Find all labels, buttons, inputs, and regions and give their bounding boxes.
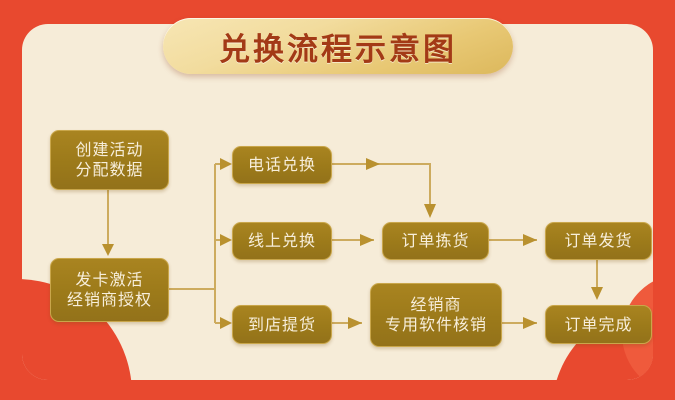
node-line: 订单发货 — [564, 231, 632, 251]
node-line: 创建活动 — [75, 140, 143, 160]
node-line: 分配数据 — [75, 160, 143, 180]
node-create-activity[interactable]: 创建活动 分配数据 — [50, 130, 169, 190]
node-line: 发卡激活 — [75, 270, 143, 290]
title-banner: 兑换流程示意图 — [163, 18, 513, 74]
node-store-pickup[interactable]: 到店提货 — [232, 305, 332, 344]
node-line: 经销商 — [410, 295, 461, 315]
node-dealer-software-verification[interactable]: 经销商 专用软件核销 — [370, 283, 502, 347]
node-line: 经销商授权 — [67, 290, 152, 310]
node-phone-redemption[interactable]: 电话兑换 — [232, 146, 332, 184]
node-order-shipping[interactable]: 订单发货 — [545, 222, 652, 260]
node-line: 订单拣货 — [401, 231, 469, 251]
diagram-canvas: 兑换流程示意图 — [0, 0, 675, 400]
node-line: 线上兑换 — [248, 231, 316, 251]
page-title: 兑换流程示意图 — [219, 24, 457, 69]
node-order-picking[interactable]: 订单拣货 — [382, 222, 489, 260]
node-line: 订单完成 — [564, 315, 632, 335]
node-line: 到店提货 — [248, 315, 316, 335]
node-online-redemption[interactable]: 线上兑换 — [232, 222, 332, 260]
node-order-complete[interactable]: 订单完成 — [545, 305, 652, 344]
node-card-activation[interactable]: 发卡激活 经销商授权 — [50, 258, 169, 322]
node-line: 电话兑换 — [248, 155, 316, 175]
node-line: 专用软件核销 — [385, 315, 487, 335]
